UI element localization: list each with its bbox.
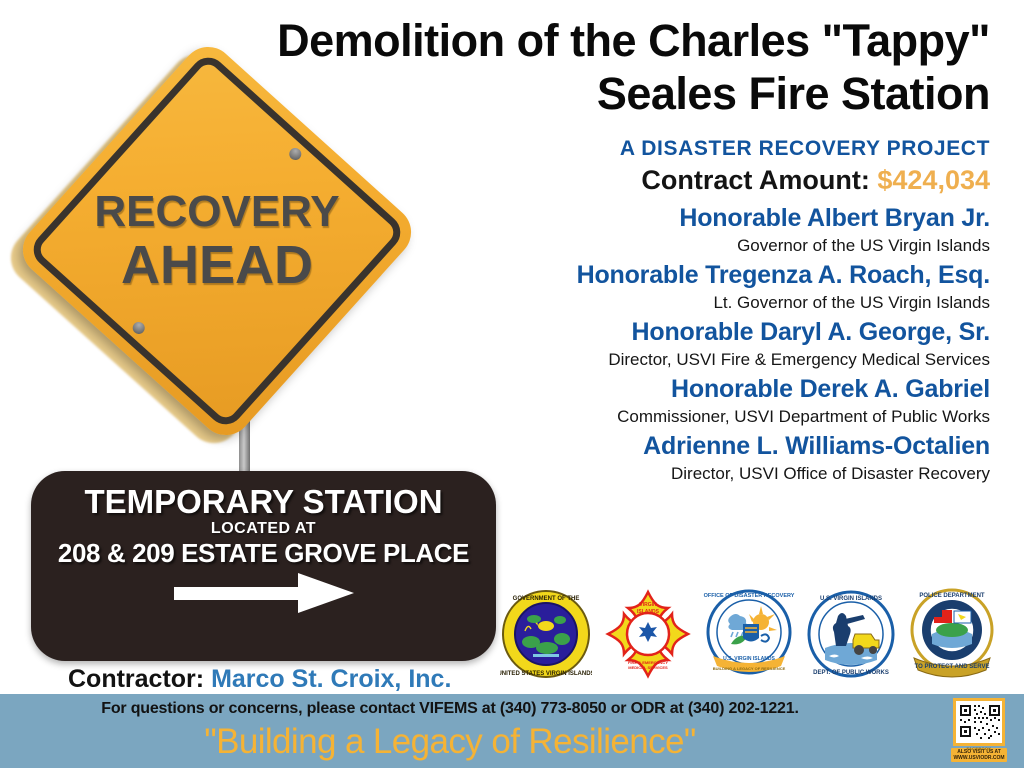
svg-text:VIRGIN: VIRGIN [639, 602, 657, 608]
temporary-station-address: 208 & 209 ESTATE GROVE PLACE [31, 538, 496, 568]
footer-contact-text: For questions or concerns, please contac… [0, 700, 900, 718]
contractor-line: Contractor: Marco St. Croix, Inc. [68, 665, 451, 694]
svg-text:TO PROTECT AND SERVE: TO PROTECT AND SERVE [915, 664, 990, 670]
svg-text:U.S. VIRGIN ISLANDS: U.S. VIRGIN ISLANDS [723, 656, 775, 662]
contract-amount-value: $424,034 [877, 165, 990, 195]
seal-dept-of-public-works-icon: U.S. VIRGIN ISLANDS DEPT. OF PUBLIC WORK… [805, 586, 897, 682]
official-title-3: Commissioner, USVI Department of Public … [470, 405, 990, 429]
contract-amount-label: Contract Amount: [641, 165, 869, 195]
seal-government-of-usvi-icon: GOVERNMENT OF THE UNITED STATES VIRGIN I… [500, 586, 592, 682]
agency-seals-row: GOVERNMENT OF THE UNITED STATES VIRGIN I… [500, 582, 998, 686]
footer-bar: For questions or concerns, please contac… [0, 694, 1024, 768]
contract-amount-line: Contract Amount: $424,034 [470, 164, 990, 197]
arrow-head [298, 573, 354, 613]
official-title-4: Director, USVI Office of Disaster Recove… [470, 462, 990, 486]
recovery-ahead-sign: RECOVERY AHEAD [52, 82, 432, 472]
qr-code-icon[interactable]: FACEBOOK [953, 698, 1005, 746]
seal-office-of-disaster-recovery-icon: OFFICE OF DISASTER RECOVERY U.S. VIRGIN … [703, 586, 795, 682]
temporary-station-sign: TEMPORARY STATION LOCATED AT 208 & 209 E… [31, 471, 496, 661]
arrow-shaft [174, 587, 300, 600]
contractor-label: Contractor: [68, 665, 204, 693]
seal-police-department-icon: TO PROTECT AND SERVE POLICE DEPARTMENT [906, 586, 998, 682]
svg-text:DEPT. OF PUBLIC WORKS: DEPT. OF PUBLIC WORKS [813, 670, 889, 676]
official-title-0: Governor of the US Virgin Islands [470, 234, 990, 258]
seal-vi-fire-ems-icon: VIRGIN ISLANDS FIRE & EMERGENCY MEDICAL … [602, 586, 694, 682]
qr-code-block[interactable]: FACEBOOK ALSO VISIT US AT WWW.USVIODR.CO… [946, 698, 1012, 764]
project-details: A DISASTER RECOVERY PROJECT Contract Amo… [470, 136, 990, 488]
project-subtitle: A DISASTER RECOVERY PROJECT [470, 136, 990, 162]
direction-arrow-row [31, 580, 496, 606]
svg-text:OFFICE OF DISASTER RECOVERY: OFFICE OF DISASTER RECOVERY [704, 593, 795, 599]
official-name-4: Adrienne L. Williams-Octalien [470, 431, 990, 462]
ahead-text: AHEAD [121, 236, 313, 294]
diamond-sign-text: RECOVERY AHEAD [72, 96, 362, 386]
qr-visit-line-2: WWW.USVIODR.COM [951, 755, 1007, 761]
svg-text:ISLANDS: ISLANDS [637, 609, 660, 615]
title-line-1: Demolition of the Charles "Tappy" [80, 14, 990, 67]
contractor-name: Marco St. Croix, Inc. [211, 665, 451, 693]
recovery-text: RECOVERY [94, 188, 339, 236]
svg-text:BUILDING A LEGACY OF RESILIENC: BUILDING A LEGACY OF RESILIENCE [713, 666, 786, 671]
project-sign-poster: Demolition of the Charles "Tappy" Seales… [0, 0, 1024, 768]
svg-text:U.S. VIRGIN ISLANDS: U.S. VIRGIN ISLANDS [819, 596, 881, 602]
svg-text:UNITED STATES VIRGIN ISLANDS: UNITED STATES VIRGIN ISLANDS [500, 671, 592, 677]
arrow-right-icon [174, 580, 354, 606]
svg-text:GOVERNMENT OF THE: GOVERNMENT OF THE [513, 596, 580, 602]
temporary-station-headline: TEMPORARY STATION [31, 484, 496, 520]
qr-caption: FACEBOOK [958, 746, 1000, 751]
official-name-1: Honorable Tregenza A. Roach, Esq. [470, 260, 990, 291]
page-title: Demolition of the Charles "Tappy" Seales… [80, 14, 990, 120]
official-title-1: Lt. Governor of the US Virgin Islands [470, 291, 990, 315]
official-name-0: Honorable Albert Bryan Jr. [470, 203, 990, 234]
svg-text:POLICE DEPARTMENT: POLICE DEPARTMENT [919, 593, 985, 599]
svg-text:MEDICAL SERVICES: MEDICAL SERVICES [628, 665, 668, 670]
temporary-station-located-label: LOCATED AT [31, 520, 496, 538]
title-line-2: Seales Fire Station [80, 67, 990, 120]
footer-slogan: "Building a Legacy of Resilience" [0, 721, 900, 763]
official-name-3: Honorable Derek A. Gabriel [470, 374, 990, 405]
official-name-2: Honorable Daryl A. George, Sr. [470, 317, 990, 348]
official-title-2: Director, USVI Fire & Emergency Medical … [470, 348, 990, 372]
